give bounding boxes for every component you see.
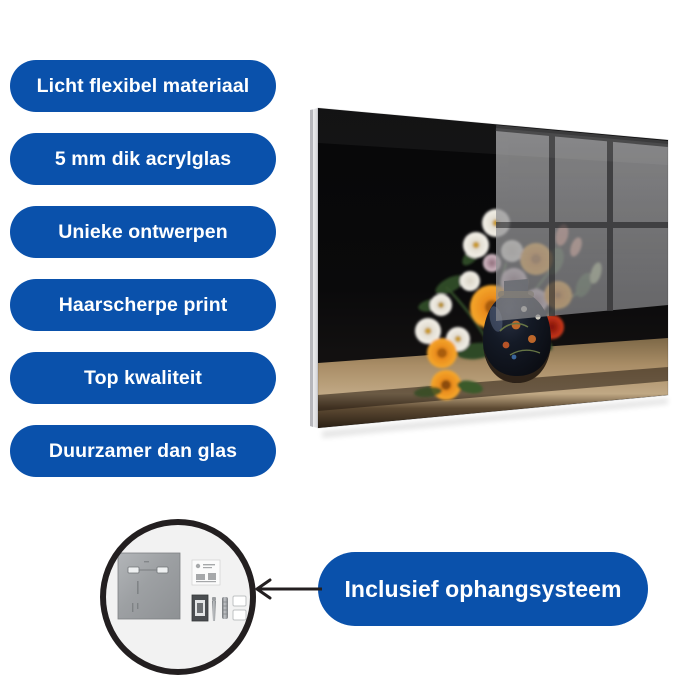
callout-badge-label: Inclusief ophangsysteem — [344, 576, 621, 603]
feature-badge-label: Duurzamer dan glas — [49, 440, 237, 463]
feature-badge-licht-flexibel-materiaal[interactable]: Licht flexibel materiaal — [10, 60, 276, 112]
feature-badge-label: Haarscherpe print — [59, 294, 228, 317]
feature-badge-duurzamer-dan-glas[interactable]: Duurzamer dan glas — [10, 425, 276, 477]
callout-circle-outline — [100, 519, 256, 675]
callout-badge-inclusief-ophangsysteem[interactable]: Inclusief ophangsysteem — [318, 552, 648, 626]
feature-badge-label: Licht flexibel materiaal — [37, 75, 250, 98]
product-feature-infographic: Licht flexibel materiaal 5 mm dik acrylg… — [0, 0, 700, 700]
feature-badge-label: Top kwaliteit — [84, 367, 202, 390]
acrylic-panel-product-image — [300, 95, 680, 445]
acrylic-panel-svg — [300, 95, 680, 445]
feature-badge-unieke-ontwerpen[interactable]: Unieke ontwerpen — [10, 206, 276, 258]
feature-badge-label: 5 mm dik acrylglas — [55, 148, 231, 171]
feature-badge-label: Unieke ontwerpen — [58, 221, 228, 244]
feature-badge-5-mm-dik-acrylglas[interactable]: 5 mm dik acrylglas — [10, 133, 276, 185]
mounting-kit-callout — [100, 519, 256, 675]
feature-badge-top-kwaliteit[interactable]: Top kwaliteit — [10, 352, 276, 404]
arrow-left-icon — [248, 575, 324, 603]
feature-badge-haarscherpe-print[interactable]: Haarscherpe print — [10, 279, 276, 331]
